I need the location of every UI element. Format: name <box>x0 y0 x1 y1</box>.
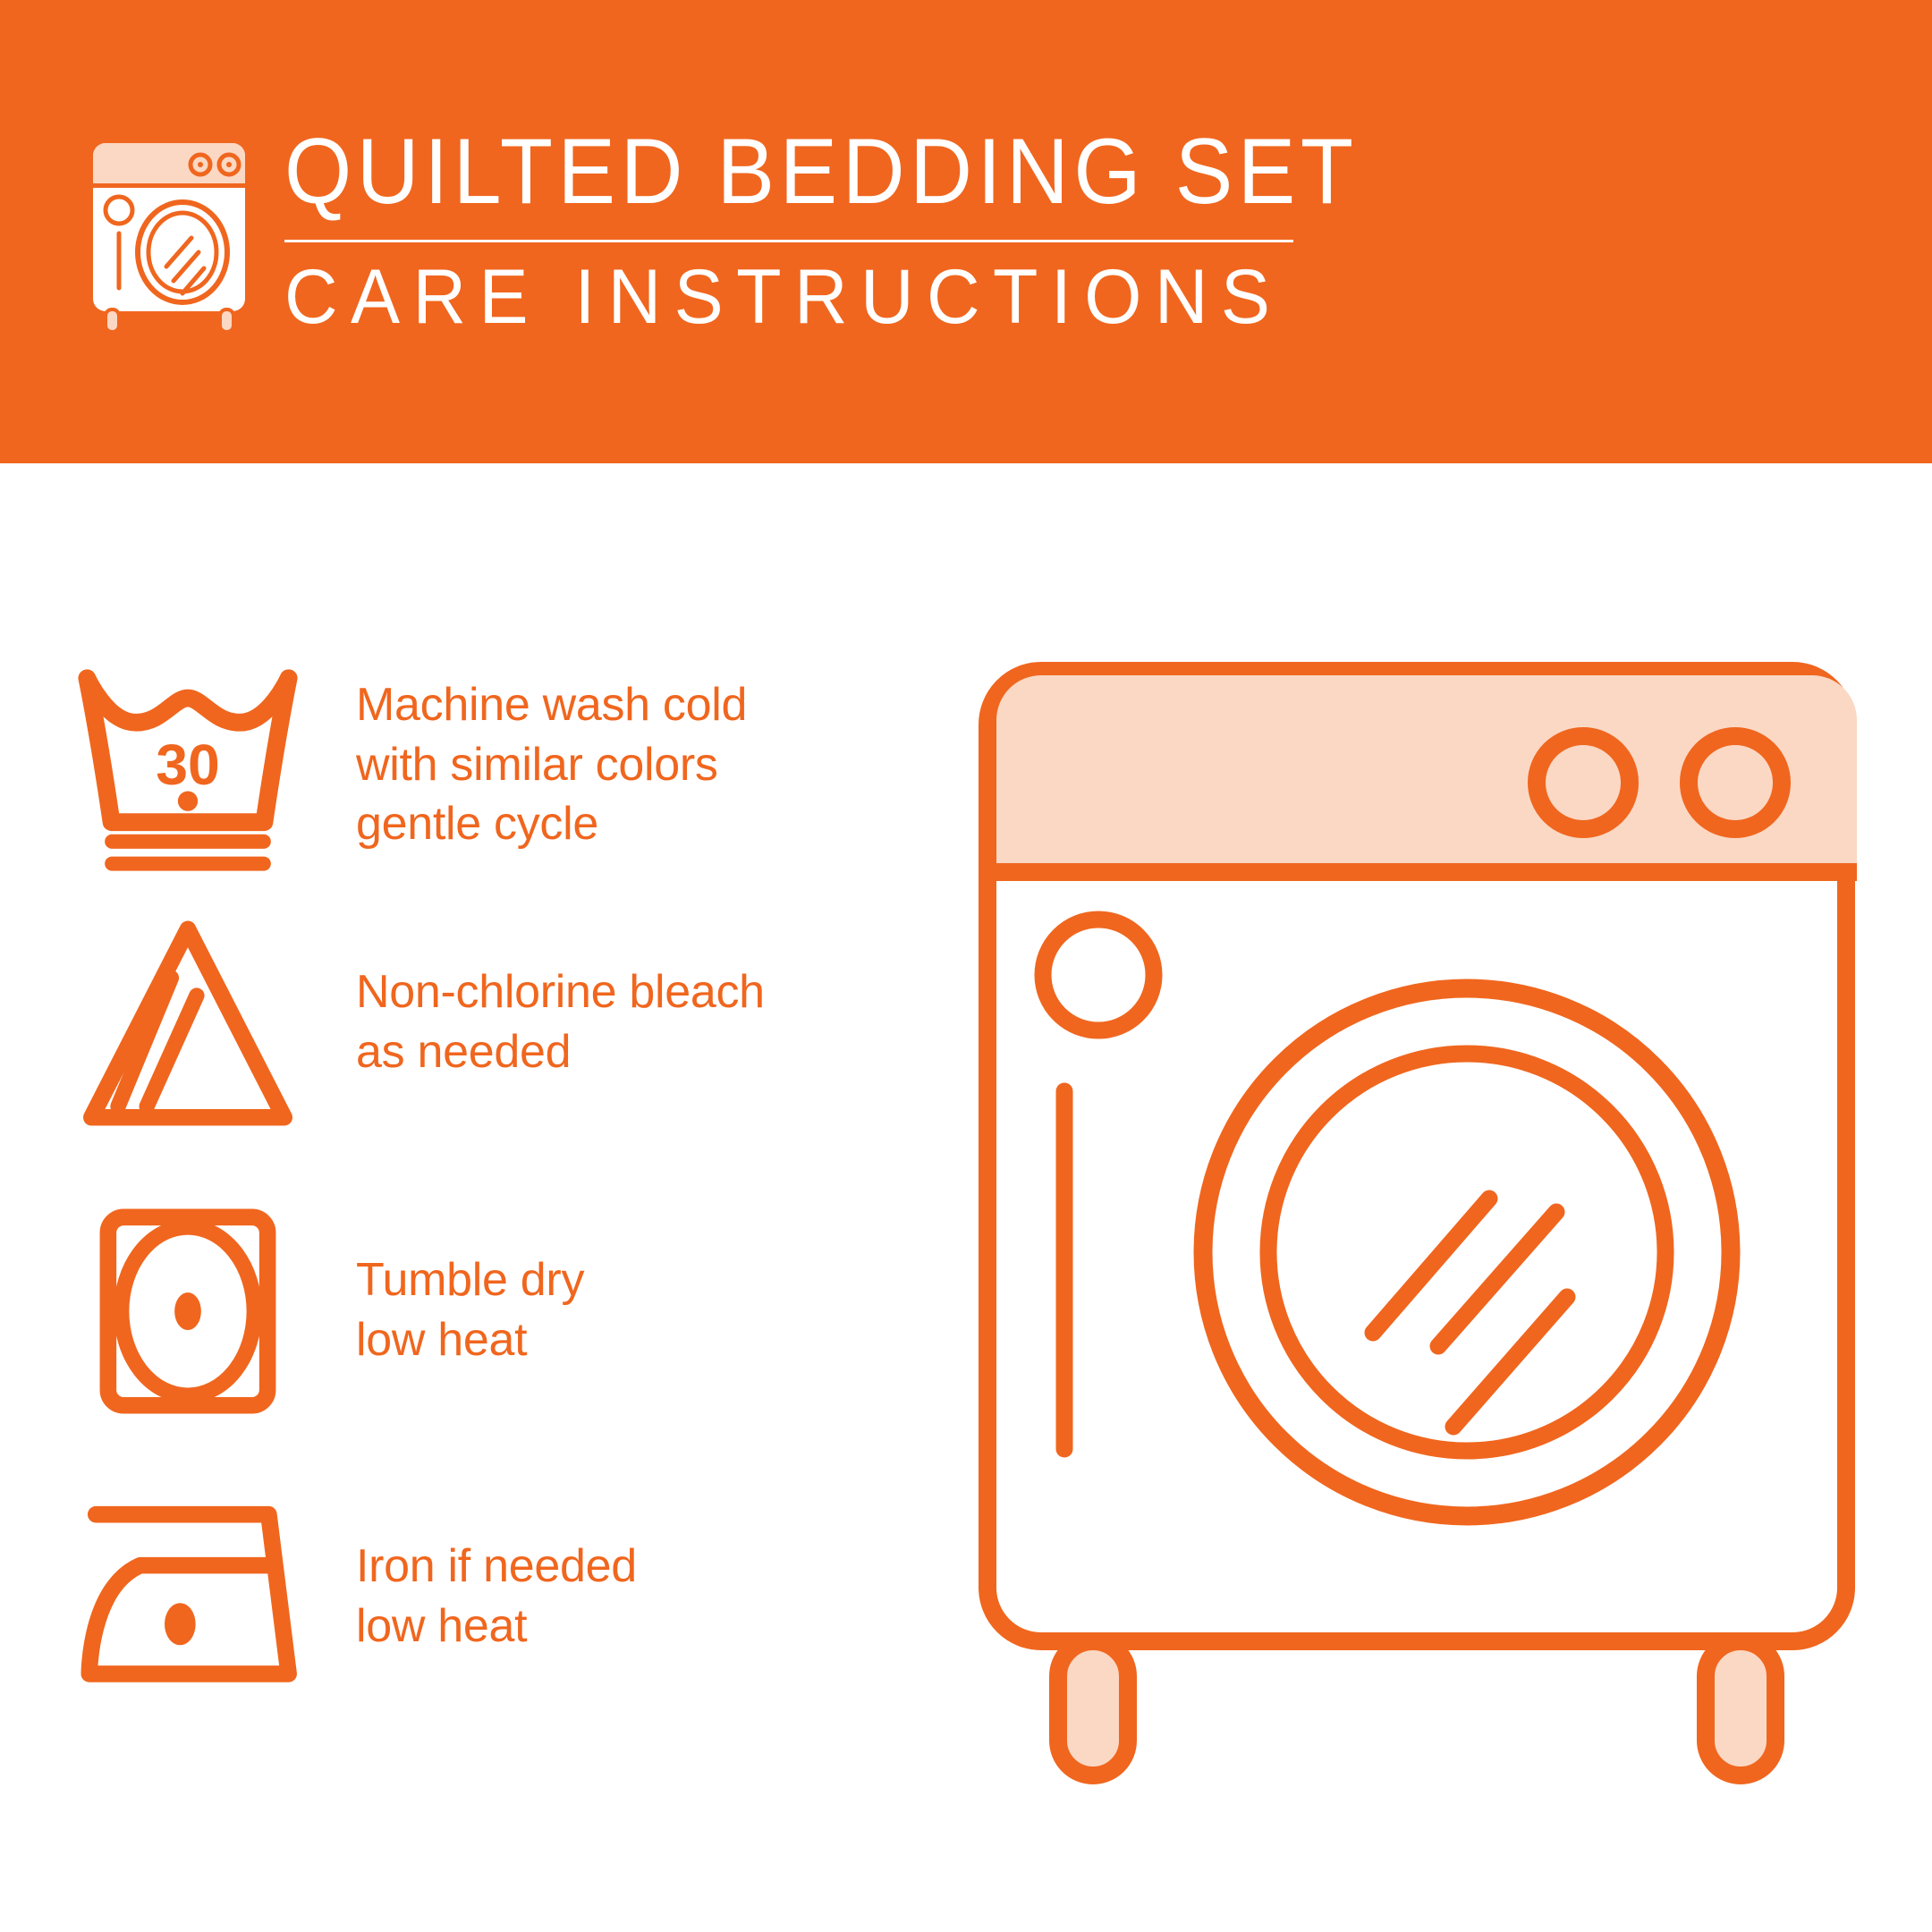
header-inner: QUILTED BEDDING SET CARE INSTRUCTIONS <box>0 0 1932 463</box>
care-row-tumble-dry: Tumble dry low heat <box>0 1207 894 1413</box>
control-panel <box>996 675 1857 872</box>
care-row-machine-wash: 30 Machine wash cold with similar colors… <box>0 662 894 868</box>
care-row-bleach: Non-chlorine bleach as needed <box>0 919 894 1125</box>
foot-left <box>1058 1641 1128 1775</box>
page-title: QUILTED BEDDING SET <box>284 125 1241 218</box>
washing-machine-icon <box>86 131 252 336</box>
wash-temperature-label: 30 <box>156 733 220 797</box>
page-subtitle: CARE INSTRUCTIONS <box>284 258 1272 335</box>
header-titles: QUILTED BEDDING SET CARE INSTRUCTIONS <box>284 125 1313 335</box>
iron-low-heat-icon <box>72 1494 304 1699</box>
care-instruction-list: 30 Machine wash cold with similar colors… <box>0 463 948 1932</box>
care-text-iron: Iron if needed low heat <box>356 1537 637 1656</box>
care-text-bleach: Non-chlorine bleach as needed <box>356 962 765 1081</box>
bleach-triangle-non-chlorine-icon <box>72 919 304 1125</box>
care-text-tumble-dry: Tumble dry low heat <box>356 1250 584 1369</box>
care-text-machine-wash: Machine wash cold with similar colors ge… <box>356 675 747 854</box>
tumble-dry-low-heat-icon <box>72 1207 304 1413</box>
foot-right <box>1706 1641 1775 1775</box>
washing-machine-illustration <box>966 617 1887 1869</box>
care-row-iron: Iron if needed low heat <box>0 1494 894 1699</box>
header-band: QUILTED BEDDING SET CARE INSTRUCTIONS <box>0 0 1932 463</box>
wash-tub-30-gentle-icon: 30 <box>72 662 304 868</box>
title-divider <box>284 240 1293 242</box>
